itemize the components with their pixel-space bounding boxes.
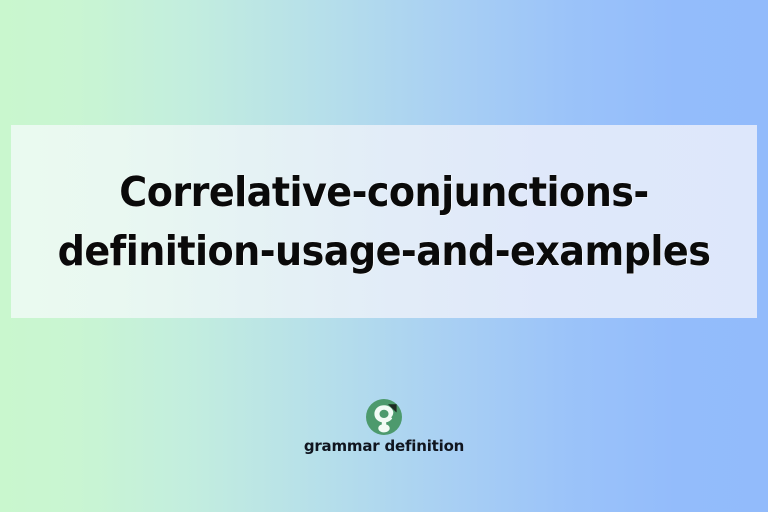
site-logo: grammar definition [0,398,768,454]
page-title: Correlative-conjunctions-definition-usag… [50,163,718,279]
grammar-definition-g-logo-icon [365,398,403,436]
slide-canvas: Correlative-conjunctions-definition-usag… [0,0,768,512]
title-card: Correlative-conjunctions-definition-usag… [11,125,757,318]
logo-wordmark: grammar definition [304,439,464,454]
